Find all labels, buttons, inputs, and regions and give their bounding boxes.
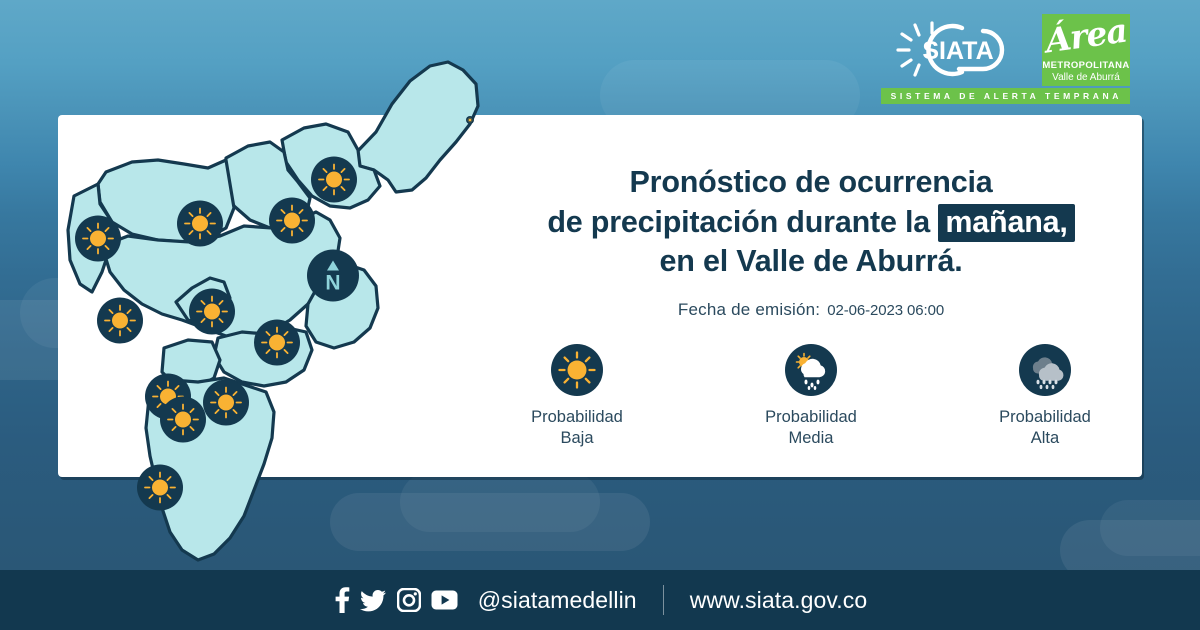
legend-label-baja: Probabilidad Baja [531,407,623,450]
legend-item-alta: Probabilidad Alta [960,344,1130,450]
area-line2: Valle de Aburrá [1042,72,1130,83]
legend-label-alta: Probabilidad Alta [999,407,1091,450]
legend-item-media: Probabilidad Media [726,344,896,450]
siata-logo: SIATA [888,14,1028,86]
area-metropolitana-logo: Área METROPOLITANA Valle de Aburrá [1042,14,1130,86]
footer-divider [663,585,664,615]
title-highlight: mañana, [938,204,1074,242]
legend-label-media: Probabilidad Media [765,407,857,450]
youtube-icon[interactable] [431,590,458,610]
title-line-2: de precipitación durante la mañana, [547,203,1074,243]
area-line1: METROPOLITANA [1042,60,1130,71]
sun-cloud-rain-icon [785,344,837,396]
emission-date-value: 02-06-2023 06:00 [827,302,944,319]
emission-date-label: Fecha de emisión: [678,300,820,320]
facebook-icon[interactable] [333,587,350,613]
social-handle[interactable]: @siatamedellin [478,587,637,614]
social-links [333,587,458,613]
background-cloud-4 [400,472,600,532]
siata-tagline: SISTEMA DE ALERTA TEMPRANA [881,88,1130,104]
sun-cloud-icon: SIATA [888,14,1028,86]
title-line-1: Pronóstico de ocurrencia [547,163,1074,203]
probability-legend: Probabilidad Baja [492,344,1130,450]
cloud-rain-icon [1019,344,1071,396]
area-script-text: Área [1042,14,1130,61]
instagram-icon[interactable] [397,588,421,612]
sun-icon [551,344,603,396]
background-cloud-6 [1100,500,1200,556]
title-line-2-text: de precipitación durante la [547,205,938,239]
forecast-panel: Pronóstico de ocurrencia de precipitació… [480,115,1142,477]
legend-item-baja: Probabilidad Baja [492,344,662,450]
twitter-icon[interactable] [360,587,387,613]
website-link[interactable]: www.siata.gov.co [690,587,868,614]
footer-bar: @siatamedellin www.siata.gov.co [0,570,1200,630]
title-line-3: en el Valle de Aburrá. [547,242,1074,282]
siata-wordmark: SIATA [922,37,993,65]
brand-logos: SIATA Área METROPOLITANA Valle de Aburrá [888,14,1130,86]
emission-date: Fecha de emisión: 02-06-2023 06:00 [678,300,944,320]
page-title: Pronóstico de ocurrencia de precipitació… [547,163,1074,282]
